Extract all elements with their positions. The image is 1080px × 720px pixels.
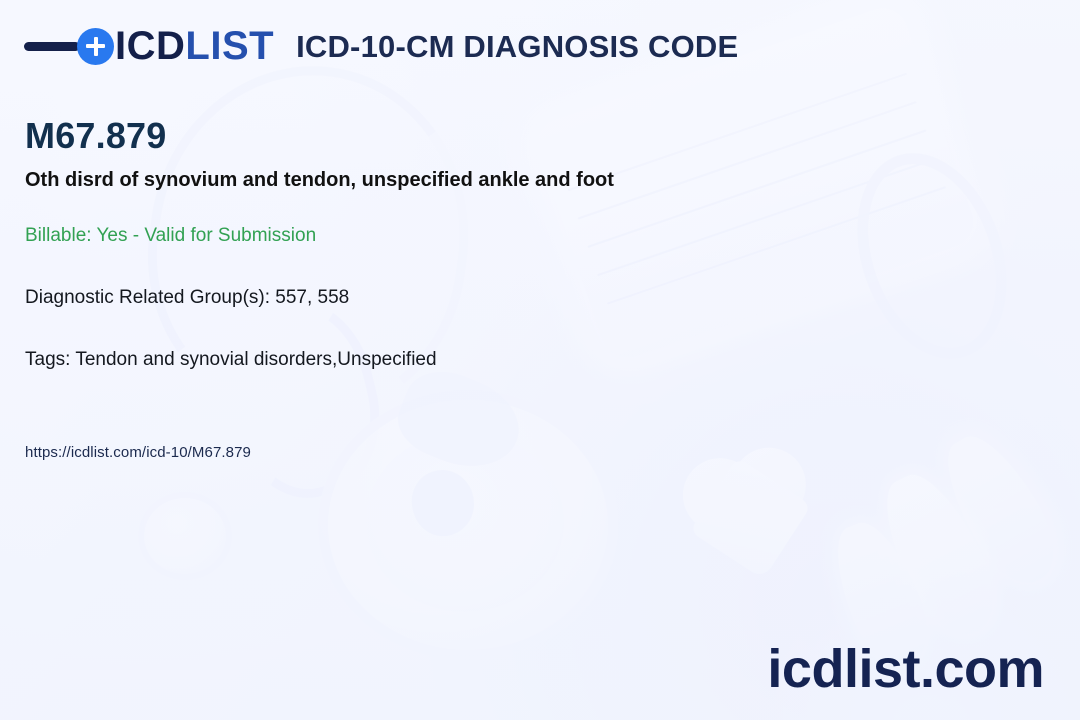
header: ICDLIST ICD-10-CM DIAGNOSIS CODE	[24, 26, 738, 66]
page-title: ICD-10-CM DIAGNOSIS CODE	[296, 31, 738, 62]
dash-icon	[24, 42, 80, 51]
diagnosis-code: M67.879	[25, 116, 167, 156]
plus-badge-icon	[77, 28, 114, 65]
tags-list: Tags: Tendon and synovial disorders,Unsp…	[25, 348, 437, 373]
footer-brand: icdlist.com	[767, 642, 1044, 696]
billable-status: Billable: Yes - Valid for Submission	[25, 224, 316, 249]
logo-wordmark-list: LIST	[185, 24, 274, 68]
diagnostic-related-groups: Diagnostic Related Group(s): 557, 558	[25, 286, 349, 311]
icd-code-card: ICDLIST ICD-10-CM DIAGNOSIS CODE M67.879…	[0, 0, 1080, 720]
logo-wordmark: ICDLIST	[115, 26, 274, 66]
source-url-link[interactable]: https://icdlist.com/icd-10/M67.879	[25, 443, 251, 463]
icdlist-logo[interactable]: ICDLIST	[24, 26, 274, 66]
diagnosis-description: Oth disrd of synovium and tendon, unspec…	[25, 167, 614, 193]
logo-wordmark-icd: ICD	[115, 24, 185, 68]
